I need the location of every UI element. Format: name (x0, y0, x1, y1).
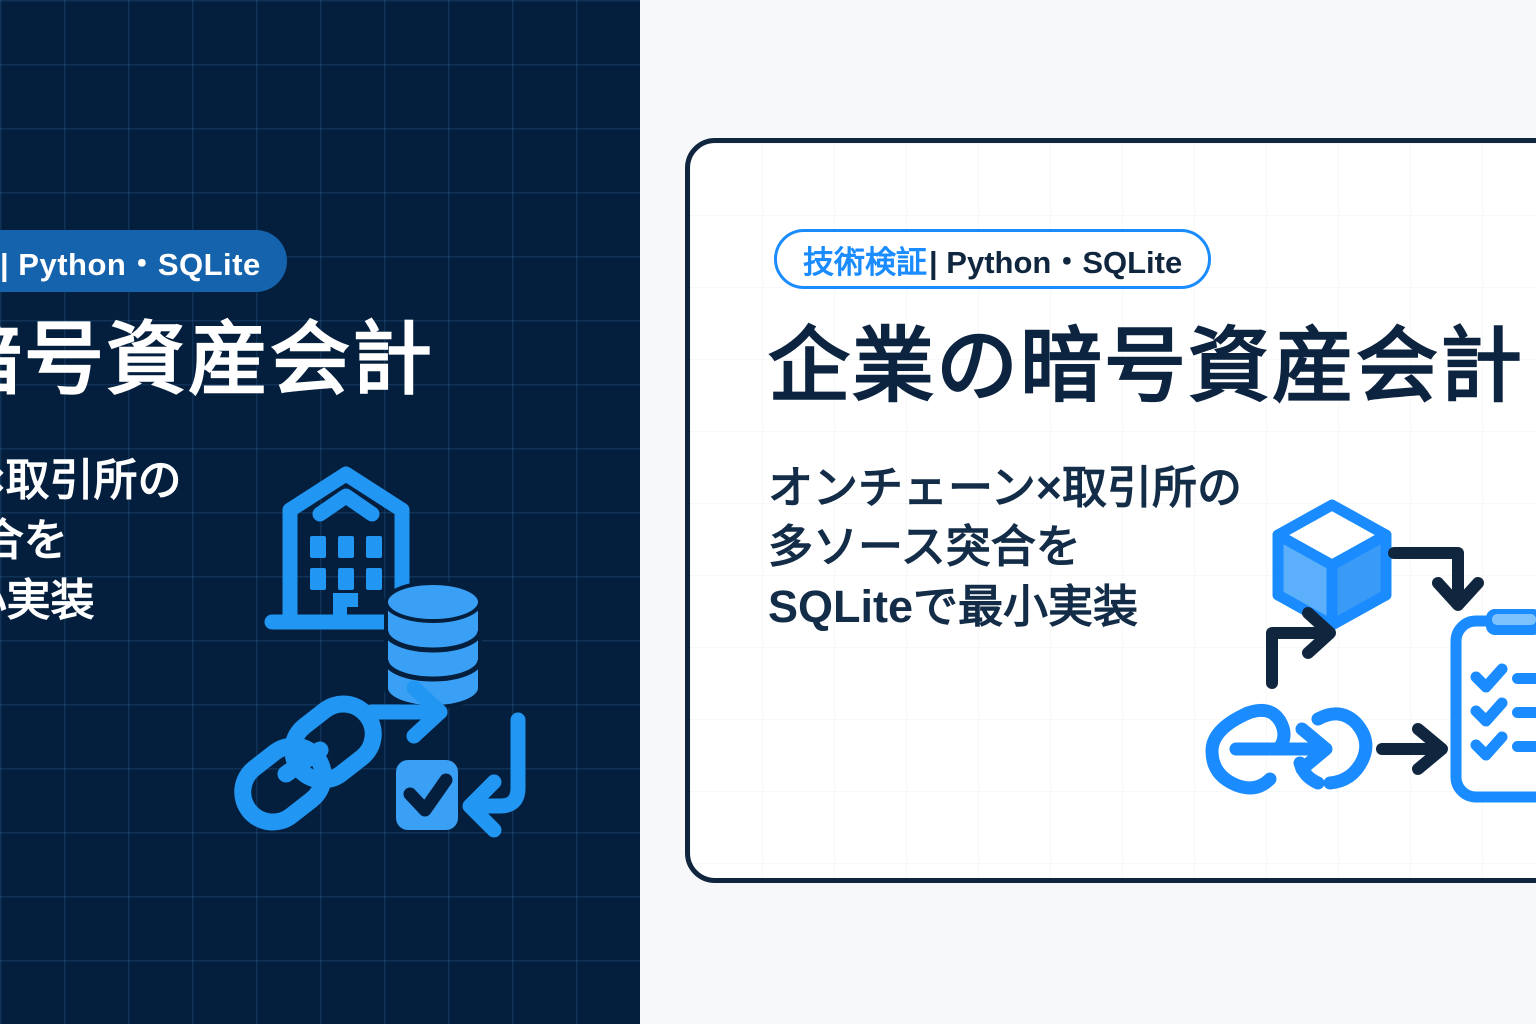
database-cylinder-icon (386, 583, 480, 707)
reconciliation-illustration (1200, 483, 1536, 813)
subtitle-line-1: オンチェーン×取引所の (768, 458, 1242, 517)
subtitle-line-3: SQLiteで最小実装 (768, 577, 1242, 636)
left-badge: | Python・SQLite (0, 230, 287, 292)
tech-badge-japanese-label: 技術検証 (803, 237, 927, 282)
left-subtitle-line-2: ース突合を (0, 512, 182, 570)
left-dark-panel: | Python・SQLite の暗号資産会計 ェーン×取引所の ース突合を e… (0, 0, 640, 1024)
left-badge-label: | Python・SQLite (0, 239, 261, 284)
arrow-down-left-icon (470, 720, 518, 830)
left-subtitle-line-1: ェーン×取引所の (0, 452, 182, 510)
subtitle-line-2: 多ソース突合を (768, 517, 1242, 576)
right-light-panel: 技術検証 | Python・SQLite 企業の暗号資産会計 オンチェーン×取引… (640, 0, 1536, 1024)
clipboard-checklist-icon (1456, 609, 1536, 797)
poster-stage: | Python・SQLite の暗号資産会計 ェーン×取引所の ース突合を e… (0, 0, 1536, 1024)
left-subtitle-line-3: eで最小実装 (0, 572, 182, 630)
content-card: 技術検証 | Python・SQLite 企業の暗号資産会計 オンチェーン×取引… (685, 138, 1536, 883)
left-page-title: の暗号資産会計 (0, 320, 434, 400)
arrow-elbow-up-icon (1272, 613, 1330, 683)
tech-badge: 技術検証 | Python・SQLite (774, 229, 1211, 289)
arrow-right-icon (1382, 729, 1442, 769)
bank-windows-icon (310, 536, 382, 590)
left-subtitle: ェーン×取引所の ース突合を eで最小実装 (0, 452, 182, 632)
chain-link-icon (231, 692, 386, 834)
arrow-elbow-down-icon (1394, 553, 1478, 605)
page-subtitle: オンチェーン×取引所の 多ソース突合を SQLiteで最小実装 (768, 458, 1242, 636)
tech-badge-latin-label: | Python・SQLite (929, 237, 1182, 282)
checkbox-check-icon (396, 760, 458, 830)
page-title: 企業の暗号資産会計 (768, 326, 1524, 408)
cube-block-icon (1278, 505, 1386, 625)
left-illustration (228, 462, 608, 862)
chain-link-icon (1212, 710, 1366, 788)
